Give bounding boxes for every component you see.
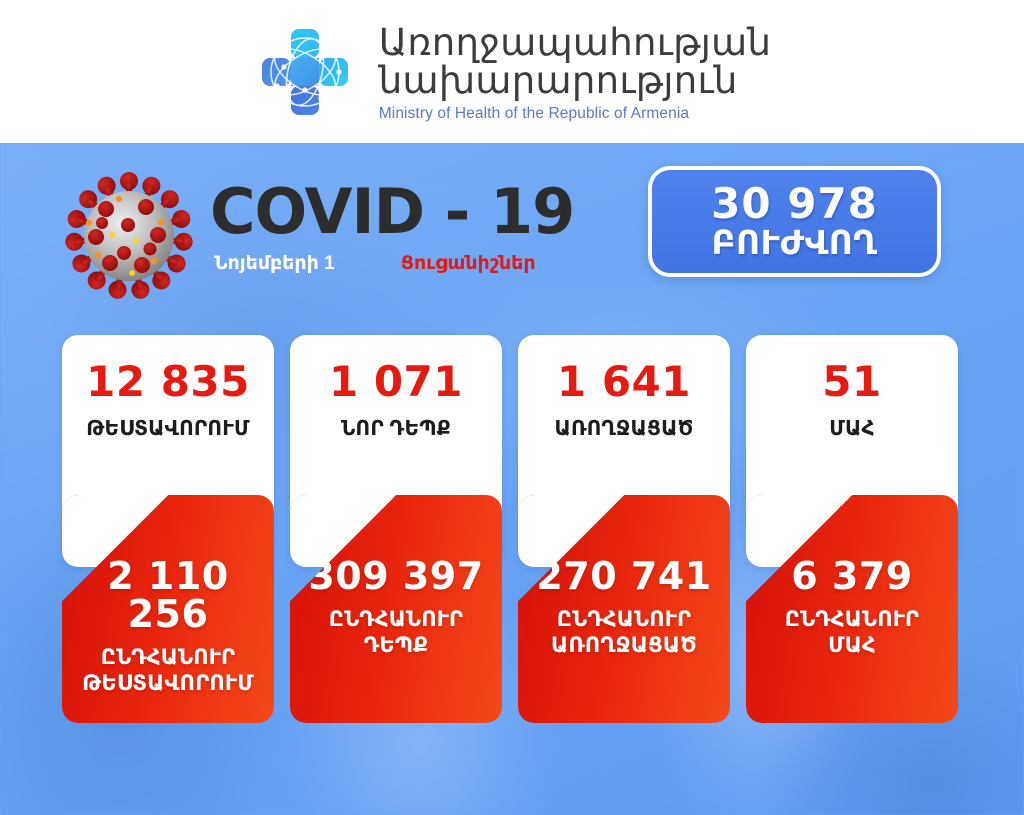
stat-cards-row: 12 835 ԹԵՍՏԱՎՈՐՈՒՄ 2 110 256 ԸՆԴՀԱՆՈՒՐ Թ… bbox=[62, 335, 962, 723]
ministry-cross-network-logo bbox=[253, 20, 357, 124]
stat-card-new-cases: 1 071 ՆՈՐ ԴԵՊՔ 309 397 ԸՆԴՀԱՆՈՒՐ ԴԵՊՔ bbox=[290, 335, 502, 723]
daily-value: 12 835 bbox=[62, 361, 274, 403]
total-value: 6 379 bbox=[746, 557, 958, 595]
total-label-line1: ԸՆԴՀԱՆՈՒՐ bbox=[290, 607, 502, 633]
daily-label: ԱՌՈՂՋԱՑԱԾ bbox=[518, 416, 730, 441]
total-panel: 6 379 ԸՆԴՀԱՆՈՒՐ ՄԱՀ bbox=[746, 495, 958, 723]
total-label-line2: ԹԵՍՏԱՎՈՐՈՒՄ bbox=[62, 671, 274, 697]
total-label-line2: ԴԵՊՔ bbox=[290, 633, 502, 659]
daily-value: 1 071 bbox=[290, 361, 502, 403]
main-panel: COVID - 19 Նոյեմբերի 1 Ցուցանիշներ 30 97… bbox=[0, 143, 1024, 815]
active-cases-number: 30 978 bbox=[711, 183, 878, 226]
ministry-title-block: Առողջապահության նախարարություն Ministry … bbox=[379, 20, 771, 124]
ministry-subtitle-en: Ministry of Health of the Republic of Ar… bbox=[379, 105, 771, 123]
total-label-line2: ՄԱՀ bbox=[746, 633, 958, 659]
covid-title-group: COVID - 19 Նոյեմբերի 1 Ցուցանիշներ bbox=[62, 165, 574, 303]
total-value: 270 741 bbox=[518, 557, 730, 595]
total-panel: 2 110 256 ԸՆԴՀԱՆՈՒՐ ԹԵՍՏԱՎՈՐՈՒՄ bbox=[62, 495, 274, 723]
coronavirus-particle-icon bbox=[62, 169, 196, 303]
total-value: 309 397 bbox=[290, 557, 502, 595]
daily-label: ՆՈՐ ԴԵՊՔ bbox=[290, 416, 502, 441]
total-panel: 270 741 ԸՆԴՀԱՆՈՒՐ ԱՌՈՂՋԱՑԱԾ bbox=[518, 495, 730, 723]
daily-label: ՄԱՀ bbox=[746, 416, 958, 441]
ministry-title-hy-line1: Առողջապահության bbox=[379, 24, 771, 62]
covid-infographic: Առողջապահության նախարարություն Ministry … bbox=[0, 0, 1024, 815]
indicators-label: Ցուցանիշներ bbox=[401, 252, 536, 275]
active-cases-label: ԲՈՒԺՎՈՂ bbox=[711, 226, 877, 261]
total-value: 2 110 256 bbox=[62, 557, 274, 633]
daily-label: ԹԵՍՏԱՎՈՐՈՒՄ bbox=[62, 416, 274, 441]
daily-value: 1 641 bbox=[518, 361, 730, 403]
total-label-line1: ԸՆԴՀԱՆՈՒՐ bbox=[518, 607, 730, 633]
stat-card-recovered: 1 641 ԱՌՈՂՋԱՑԱԾ 270 741 ԸՆԴՀԱՆՈՒՐ ԱՌՈՂՋԱ… bbox=[518, 335, 730, 723]
covid-title-text: COVID - 19 Նոյեմբերի 1 Ցուցանիշներ bbox=[210, 165, 574, 275]
report-date: Նոյեմբերի 1 bbox=[214, 252, 335, 275]
stat-card-deaths: 51 ՄԱՀ 6 379 ԸՆԴՀԱՆՈՒՐ ՄԱՀ bbox=[746, 335, 958, 723]
active-cases-badge: 30 978 ԲՈՒԺՎՈՂ bbox=[648, 166, 941, 277]
covid-heading: COVID - 19 bbox=[210, 181, 574, 243]
header-band: Առողջապահության նախարարություն Ministry … bbox=[0, 0, 1024, 143]
ministry-title-hy-line2: նախարարություն bbox=[379, 62, 771, 100]
daily-value: 51 bbox=[746, 361, 958, 403]
total-label-line1: ԸՆԴՀԱՆՈՒՐ bbox=[746, 607, 958, 633]
total-panel: 309 397 ԸՆԴՀԱՆՈՒՐ ԴԵՊՔ bbox=[290, 495, 502, 723]
stat-card-testing: 12 835 ԹԵՍՏԱՎՈՐՈՒՄ 2 110 256 ԸՆԴՀԱՆՈՒՐ Թ… bbox=[62, 335, 274, 723]
total-label-line1: ԸՆԴՀԱՆՈՒՐ bbox=[62, 645, 274, 671]
total-label-line2: ԱՌՈՂՋԱՑԱԾ bbox=[518, 633, 730, 659]
